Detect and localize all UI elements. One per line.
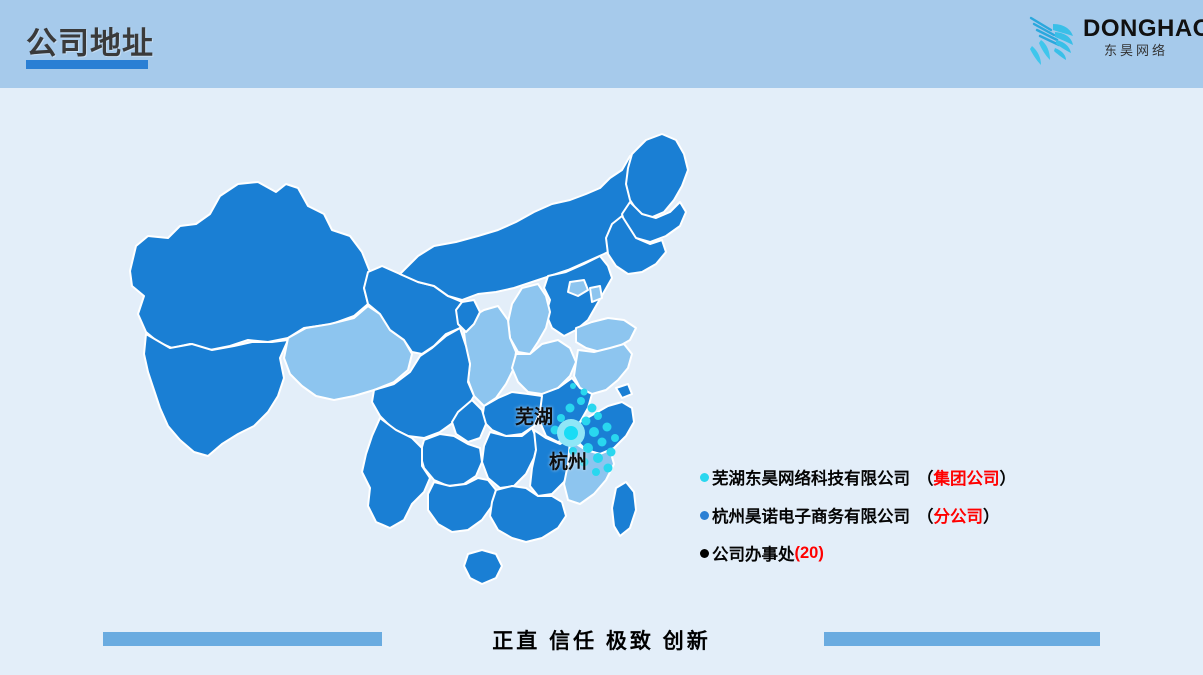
- legend-bullet-icon: [700, 511, 709, 520]
- legend-company-tag: （分公司）: [917, 503, 1000, 527]
- legend-tag-highlight: 分公司: [934, 508, 984, 526]
- china-map: [118, 96, 698, 616]
- legend-item-branch-company[interactable]: 杭州昊诺电子商务有限公司 （分公司）: [700, 496, 1030, 534]
- company-logo: DONGHAO 东昊网络: [1021, 8, 1189, 76]
- legend-tag-highlight: (20): [795, 544, 824, 562]
- legend-tag-close: ）: [1000, 470, 1017, 488]
- legend-item-group-company[interactable]: 芜湖东昊网络科技有限公司 （集团公司）: [700, 458, 1030, 496]
- map-label-wuhu: 芜湖: [515, 402, 553, 429]
- legend-tag-open: （: [917, 470, 934, 488]
- legend-tag-open: （: [917, 508, 934, 526]
- logo-subtitle: 东昊网络: [1083, 42, 1189, 60]
- legend-company-name: 芜湖东昊网络科技有限公司: [712, 465, 910, 489]
- legend-company-name: 公司办事处: [712, 541, 795, 565]
- legend-company-tag: （集团公司）: [917, 465, 1016, 489]
- legend: 芜湖东昊网络科技有限公司 （集团公司） 杭州昊诺电子商务有限公司 （分公司） 公…: [700, 458, 1030, 572]
- feather-wing-icon: [1021, 10, 1083, 72]
- footer-tagline: 正直 信任 极致 创新: [0, 625, 1203, 655]
- slide-header: 公司地址: [0, 0, 1203, 88]
- legend-bullet-icon: [700, 473, 709, 482]
- legend-bullet-icon: [700, 549, 709, 558]
- office-dots-layer: [118, 96, 698, 616]
- map-label-hangzhou: 杭州: [549, 447, 587, 474]
- logo-name: DONGHAO: [1083, 16, 1189, 42]
- hq-marker-wuhu[interactable]: [557, 419, 585, 447]
- legend-item-offices[interactable]: 公司办事处 (20): [700, 534, 1030, 572]
- legend-tag-close: ）: [983, 508, 1000, 526]
- page-title: 公司地址: [26, 18, 154, 63]
- logo-text-block: DONGHAO 东昊网络: [1083, 16, 1189, 60]
- legend-tag-highlight: 集团公司: [934, 470, 1000, 488]
- legend-company-name: 杭州昊诺电子商务有限公司: [712, 503, 910, 527]
- legend-company-tag: (20): [795, 544, 824, 563]
- title-underline: [26, 60, 148, 69]
